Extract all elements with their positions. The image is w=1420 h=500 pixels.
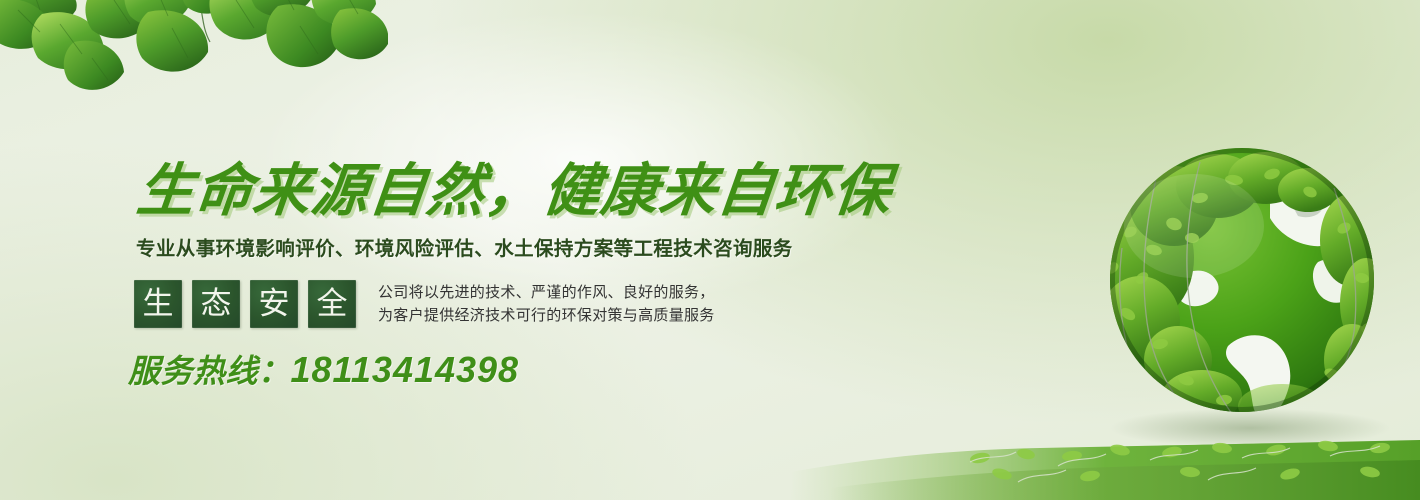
pitch-line-1: 公司将以先进的技术、严谨的作风、良好的服务， [378,281,715,304]
stamp-box-1: 生 [134,280,182,328]
green-globe-icon [1082,128,1412,458]
hotline-label: 服务热线： [128,353,291,389]
grass-foliage-icon [790,410,1420,500]
stamp-box-3: 安 [250,280,298,328]
hotline-number[interactable]: 18113414398 [291,349,520,390]
subheadline: 专业从事环境影响评价、环境风险评估、水土保持方案等工程技术咨询服务 [136,236,834,262]
pitch-line-2: 为客户提供经济技术可行的环保对策与高质量服务 [378,304,715,327]
page-title: 生命来源自然，健康来自环保 [134,160,841,222]
hotline: 服务热线：18113414398 [128,350,834,391]
ivy-leaves-icon [0,0,388,116]
stamp-group: 生 态 安 全 [134,280,356,328]
eco-banner: 生命来源自然，健康来自环保 专业从事环境影响评价、环境风险评估、水土保持方案等工… [0,0,1420,500]
banner-copy: 生命来源自然，健康来自环保 专业从事环境影响评价、环境风险评估、水土保持方案等工… [134,160,834,391]
pitch-text: 公司将以先进的技术、严谨的作风、良好的服务， 为客户提供经济技术可行的环保对策与… [378,281,715,327]
stamp-box-2: 态 [192,280,240,328]
stamps-and-pitch-row: 生 态 安 全 公司将以先进的技术、严谨的作风、良好的服务， 为客户提供经济技术… [134,280,834,328]
stamp-box-4: 全 [308,280,356,328]
